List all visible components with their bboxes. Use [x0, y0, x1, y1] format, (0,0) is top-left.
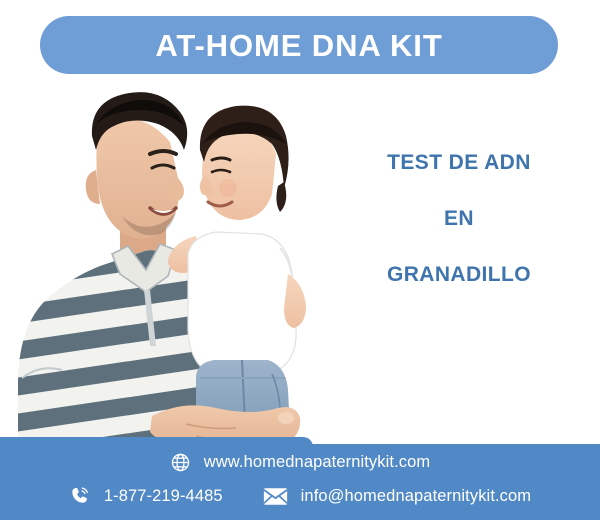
heading-line-1: TEST DE ADN: [330, 152, 588, 173]
header-banner: AT-HOME DNA KIT: [40, 16, 558, 74]
email-text: info@homednapaternitykit.com: [301, 488, 532, 505]
main-heading: TEST DE ADN EN GRANADILLO: [330, 152, 588, 285]
phone-text: 1-877-219-4485: [104, 488, 223, 505]
website-text: www.homednapaternitykit.com: [204, 454, 430, 471]
family-photo-illustration: [0, 78, 320, 453]
man-head: [86, 92, 187, 238]
heading-line-3: GRANADILLO: [330, 264, 588, 285]
heading-line-2: EN: [330, 208, 588, 229]
footer-contact-group: www.homednapaternitykit.com 1-877-219-44…: [0, 444, 600, 520]
footer-item-website[interactable]: www.homednapaternitykit.com: [170, 452, 430, 473]
header-title: AT-HOME DNA KIT: [155, 30, 442, 61]
phone-icon: [69, 485, 91, 507]
family-photo: [0, 78, 320, 453]
promo-card: AT-HOME DNA KIT: [0, 0, 600, 520]
footer-item-phone[interactable]: 1-877-219-4485: [69, 485, 223, 507]
globe-icon: [170, 452, 191, 473]
envelope-icon: [263, 487, 288, 506]
footer-contact-row: 1-877-219-4485 info@homednapaternitykit.…: [0, 485, 600, 507]
footer-website-row: www.homednapaternitykit.com: [0, 452, 600, 473]
footer-item-email[interactable]: info@homednapaternitykit.com: [263, 487, 532, 506]
